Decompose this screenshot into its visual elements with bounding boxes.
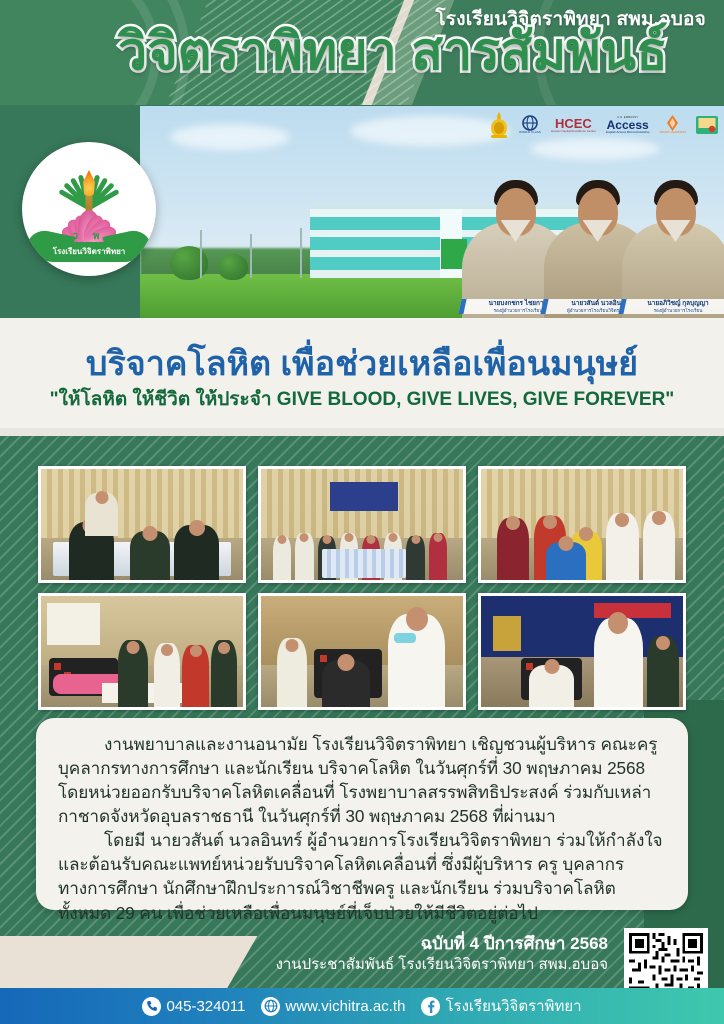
cloud	[170, 124, 290, 150]
headline-main: บริจาคโลหิต เพื่อช่วยเหลือเพื่อนมนุษย์	[0, 336, 724, 390]
headline-panel: บริจาคโลหิต เพื่อช่วยเหลือเพื่อนมนุษย์ "…	[0, 318, 724, 436]
headline-subtitle: "ให้โลหิต ให้ชีวิต ให้ประจำ GIVE BLOOD, …	[0, 384, 724, 414]
pole	[200, 230, 202, 278]
staff-role: รองผู้อำนวยการโรงเรียน	[627, 308, 724, 314]
photo-item	[478, 593, 686, 710]
pole	[300, 228, 302, 278]
hcec-logo: HCEC Human Capital Excellence Center	[551, 112, 596, 138]
access-logo: U.S. EMBASSY Access English Access Micro…	[606, 112, 650, 138]
article-line: บุคลากรทางการศึกษา และนักเรียน บริจาคโลห…	[58, 756, 668, 780]
contact-facebook[interactable]: โรงเรียนวิจิตราพิทยา	[421, 994, 581, 1018]
ministry-of-education-emblem	[489, 112, 509, 138]
article-line: โดยมี นายวสันต์ นวลอินทร์ ผู้อำนวยการโรง…	[58, 828, 668, 852]
school-logo-badge: ว พ โรงเรียนวิจิตราพิทยา	[22, 142, 156, 276]
staff-name-tag: นายอภิวิชญ์ กุลบุญญา รองผู้อำนวยการโรงเร…	[618, 299, 724, 314]
masthead-title: วิจิตราพิทยา สารสัมพันธ์	[118, 26, 668, 78]
phone-icon	[142, 997, 161, 1016]
facebook-page-name: โรงเรียนวิจิตราพิทยา	[445, 994, 581, 1018]
contact-phone[interactable]: 045-324011	[142, 997, 245, 1016]
globe-icon	[261, 997, 280, 1016]
article-line: กาชาดจังหวัดอุบลราชธานี ในวันศุกร์ที่ 30…	[58, 804, 668, 828]
photo-grid	[38, 466, 686, 710]
school-project-logo	[696, 112, 718, 138]
contact-website[interactable]: www.vichitra.ac.th	[261, 997, 405, 1016]
article-text-panel: งานพยาบาลและงานอนามัย โรงเรียนวิจิตราพิท…	[36, 718, 688, 910]
facebook-icon	[421, 997, 440, 1016]
smart-learning-academy-logo: SMART LEARNING	[659, 112, 686, 138]
photo-item	[478, 466, 686, 583]
poster-root: โรงเรียนวิจิตราพิทยา สพม.อบอจ วิจิตราพิท…	[0, 0, 724, 1024]
article-line: และต้อนรับคณะแพทย์หน่วยรับบริจาคโลหิตเคล…	[58, 852, 668, 876]
world-class-standard-school-logo: WORLD CLASS	[519, 112, 541, 138]
article-line: ทางการศึกษา นักศึกษาฝึกประการณ์วิชาชีพคร…	[58, 876, 668, 900]
article-line: โดยหน่วยออกรับบริจาคโลหิตเคลื่อนที่ โรงพ…	[58, 780, 668, 804]
logo-ribbon: โรงเรียนวิจิตราพิทยา	[33, 242, 145, 262]
partner-logo-strip: WORLD CLASS HCEC Human Capital Excellenc…	[489, 110, 718, 140]
phone-number: 045-324011	[166, 998, 245, 1015]
tree	[170, 246, 208, 280]
pole	[250, 234, 252, 278]
tree	[218, 254, 248, 280]
school-banner-photo: WORLD CLASS HCEC Human Capital Excellenc…	[140, 106, 724, 318]
masthead-header: โรงเรียนวิจิตราพิทยา สพม.อบอจ วิจิตราพิท…	[0, 0, 724, 105]
article-line: ทั้งหมด 29 คน เพื่อช่วยเหลือเพื่อนมนุษย์…	[58, 901, 668, 925]
background-diagonal-band	[0, 936, 257, 996]
photo-item	[38, 466, 246, 583]
logo-ribbon-text: โรงเรียนวิจิตราพิทยา	[33, 245, 145, 258]
photo-item	[258, 593, 466, 710]
website-url: www.vichitra.ac.th	[285, 998, 405, 1015]
article-line: งานพยาบาลและงานอนามัย โรงเรียนวิจิตราพิท…	[58, 732, 668, 756]
cloud	[350, 116, 510, 146]
staff-portrait: นายอภิวิชญ์ กุลบุญญา รองผู้อำนวยการโรงเร…	[618, 150, 724, 318]
staff-name: นายอภิวิชญ์ กุลบุญญา	[627, 300, 724, 308]
photo-item	[38, 593, 246, 710]
photo-item	[258, 466, 466, 583]
pr-department-line: งานประชาสัมพันธ์ โรงเรียนวิจิตราพิทยา สพ…	[276, 952, 608, 976]
contact-bar: 045-324011 www.vichitra.ac.th โรงเรียนวิ…	[0, 988, 724, 1024]
